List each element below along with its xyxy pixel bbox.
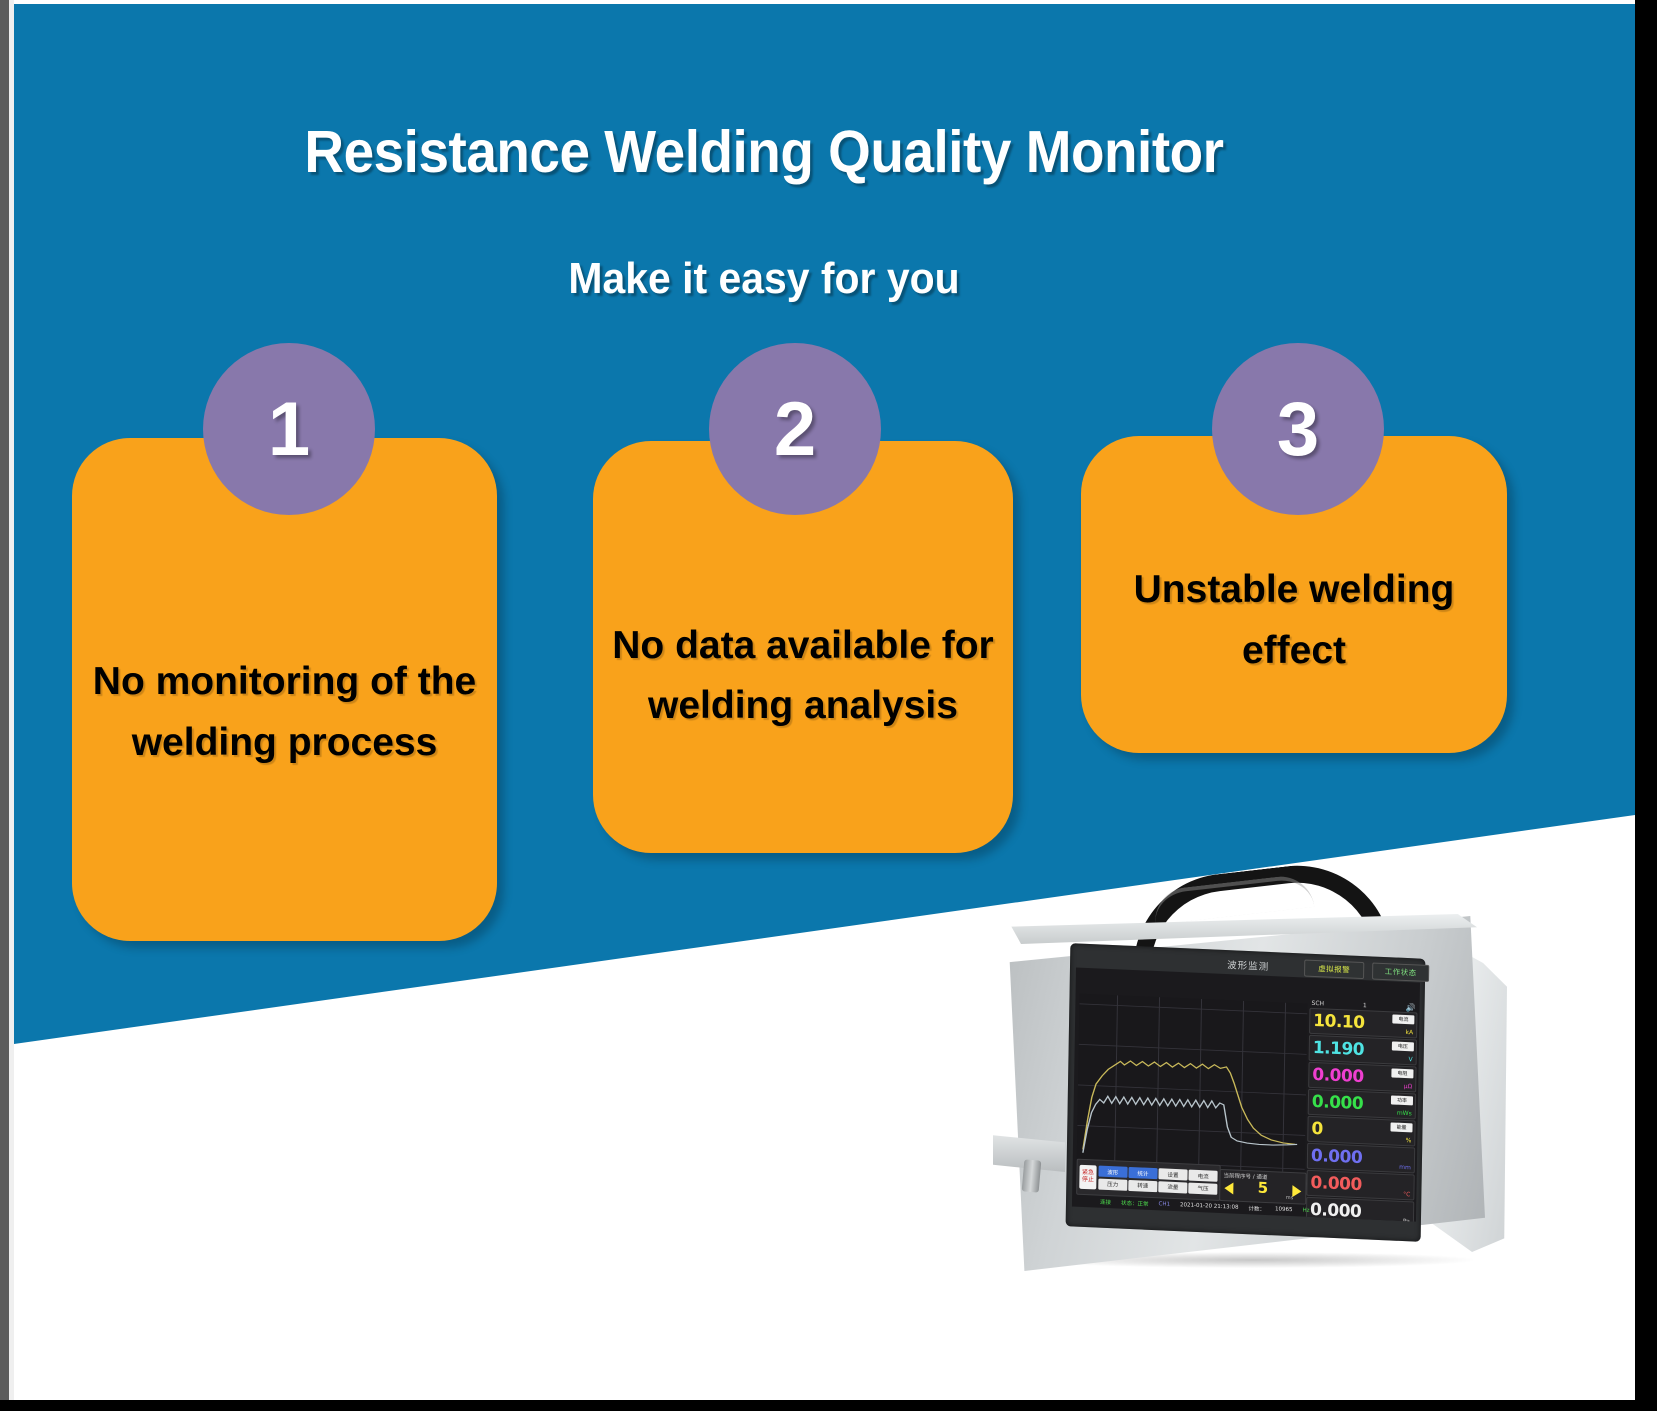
- readout-tag: 电流: [1392, 1014, 1414, 1024]
- readout-tag: 电阻: [1391, 1068, 1413, 1078]
- step-number-badge-3-label: 3: [1277, 386, 1319, 473]
- program-stepper-unit: ms: [1286, 1195, 1294, 1201]
- keypad-grid: 波形统计设置电流压力转速流量气压: [1098, 1166, 1217, 1195]
- keypad-key[interactable]: 气压: [1189, 1182, 1218, 1194]
- readout-row: 0.000mm: [1307, 1143, 1415, 1174]
- status-channel: CH1: [1159, 1201, 1171, 1208]
- readout-value: 0.000: [1308, 1147, 1363, 1166]
- status-connection: 连接: [1100, 1198, 1111, 1206]
- readout-value: 1.190: [1310, 1039, 1365, 1058]
- readout-unit: °C: [1403, 1191, 1410, 1198]
- status-state: 状态：正常: [1121, 1199, 1149, 1208]
- device-connector-plug: [1022, 1159, 1042, 1192]
- frame-top-edge: [0, 0, 1657, 4]
- readout-row: 10.10电流kA: [1309, 1008, 1417, 1039]
- waveform-plot: [1077, 994, 1308, 1173]
- frame-left-inner-edge: [9, 0, 14, 1411]
- page-title: Resistance Welding Quality Monitor: [67, 118, 1462, 186]
- slide-canvas: Resistance Welding Quality Monitor Make …: [0, 0, 1657, 1411]
- readout-list: 10.10电流kA1.190电压V0.000电阻μΩ0.000功率mWs0能量%…: [1305, 1008, 1417, 1222]
- keypad-key[interactable]: 统计: [1129, 1167, 1158, 1179]
- readout-value: 10.10: [1310, 1012, 1365, 1031]
- frame-left-edge: [0, 0, 9, 1411]
- page-subtitle: Make it easy for you: [67, 254, 1462, 304]
- step-number-badge-1-label: 1: [268, 386, 310, 473]
- waveform-svg: [1077, 994, 1308, 1173]
- readout-unit: μΩ: [1404, 1083, 1413, 1090]
- keypad-key[interactable]: 波形: [1098, 1166, 1127, 1178]
- readout-value: 0.000: [1309, 1093, 1364, 1112]
- readout-row: 0.000功率mWs: [1308, 1089, 1416, 1120]
- frame-bottom-edge: [0, 1400, 1657, 1411]
- readout-value: 0: [1308, 1120, 1323, 1138]
- keypad-key[interactable]: 设置: [1159, 1168, 1188, 1180]
- status-counter-value: 10965: [1275, 1206, 1293, 1213]
- readout-unit: mm: [1399, 1164, 1411, 1172]
- readout-tag: 功率: [1391, 1095, 1413, 1105]
- device-lcd-assembly: 波形监测 虚拟报警 工作状态: [1066, 943, 1426, 1242]
- emergency-stop-button[interactable]: 紧急停止: [1079, 1165, 1096, 1190]
- status-hz: Hz: [1302, 1208, 1309, 1214]
- step-number-badge-1: 1: [203, 343, 375, 515]
- problem-card-3-text: Unstable welding effect: [1081, 560, 1507, 681]
- welding-monitor-device: 波形监测 虚拟报警 工作状态: [985, 860, 1545, 1290]
- program-stepper[interactable]: 当前程序号 / 通道 5 ms: [1219, 1169, 1307, 1205]
- readout-unit: mWs: [1397, 1110, 1412, 1118]
- right-arrow-icon[interactable]: [1292, 1185, 1301, 1197]
- step-number-badge-2-label: 2: [774, 386, 816, 473]
- readout-row: 1.190电压V: [1309, 1035, 1417, 1066]
- keypad-key[interactable]: 转速: [1128, 1180, 1157, 1192]
- readout-column: SCH 1 🔊 10.10电流kA1.190电压V0.000电阻μΩ0.000功…: [1306, 998, 1418, 1220]
- status-datetime: 2021-01-20 21:13:08: [1180, 1202, 1239, 1211]
- step-number-badge-3: 3: [1212, 343, 1384, 515]
- plot-grid: [1077, 994, 1308, 1173]
- screen-button-work-status[interactable]: 工作状态: [1372, 962, 1429, 982]
- readout-row: 0.000°C: [1306, 1170, 1414, 1201]
- screen-button-virtual-alarm[interactable]: 虚拟报警: [1304, 959, 1364, 979]
- problem-card-1-text: No monitoring of the welding process: [72, 652, 497, 773]
- readout-header-channel: SCH: [1312, 999, 1325, 1007]
- readout-row: 0.000电阻μΩ: [1308, 1062, 1416, 1093]
- lcd-screen[interactable]: SCH 1 🔊 10.10电流kA1.190电压V0.000电阻μΩ0.000功…: [1072, 967, 1420, 1221]
- readout-tag: 能量: [1390, 1122, 1412, 1132]
- readout-header-number: 1: [1363, 1002, 1367, 1009]
- keypad-key[interactable]: 流量: [1158, 1181, 1187, 1193]
- readout-value: 0.000: [1307, 1174, 1362, 1193]
- readout-unit: kA: [1405, 1029, 1413, 1036]
- problem-card-2-text: No data available for welding analysis: [593, 616, 1013, 737]
- status-counter-label: 计数：: [1248, 1204, 1265, 1213]
- keypad-key[interactable]: 电流: [1189, 1170, 1218, 1182]
- frame-right-edge: [1635, 0, 1657, 1411]
- screen-keypad: 紧急停止 波形统计设置电流压力转速流量气压: [1076, 1159, 1221, 1201]
- readout-unit: V: [1409, 1056, 1413, 1063]
- readout-tag: 电压: [1392, 1041, 1414, 1051]
- step-number-badge-2: 2: [709, 343, 881, 515]
- readout-row: 0能量%: [1307, 1116, 1415, 1147]
- readout-unit: %: [1406, 1137, 1412, 1144]
- readout-value: 0.000: [1309, 1066, 1364, 1085]
- keypad-key[interactable]: 压力: [1098, 1178, 1127, 1190]
- speaker-icon[interactable]: 🔊: [1406, 1002, 1416, 1011]
